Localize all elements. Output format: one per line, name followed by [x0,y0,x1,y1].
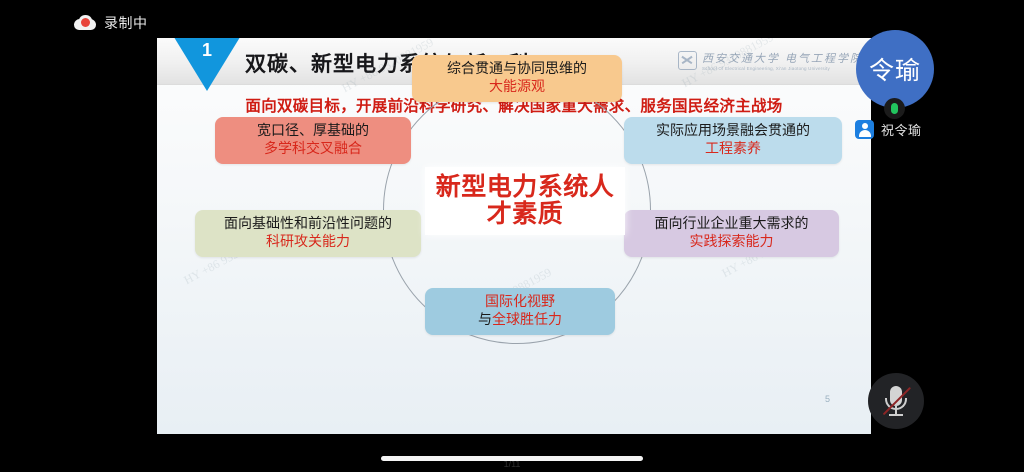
person-icon [855,120,874,139]
node-line2: 大能源观 [421,78,613,96]
diagram-center-box: 新型电力系统人 才素质 [425,167,625,235]
presentation-slide[interactable]: 1 双碳、新型电力系统与新工科 西安交通大学 电气工程学院 School Of … [157,38,871,434]
xjtu-emblem-icon [678,51,697,70]
participant-name-row: 祝令瑜 [855,120,922,139]
node-line2: 多学科交叉融合 [224,140,402,158]
avatar[interactable]: 令瑜 [856,30,934,108]
diagram-node-right-top[interactable]: 实际应用场景融会贯通的 工程素养 [624,117,842,164]
diagram-node-bottom[interactable]: 国际化视野 与全球胜任力 [425,288,615,335]
diagram-node-top[interactable]: 综合贯通与协同思维的 大能源观 [412,55,622,102]
node-line2: 科研攻关能力 [204,233,412,251]
node-line1: 宽口径、厚基础的 [224,122,402,140]
node-line2: 全球胜任力 [492,311,562,327]
avatar-initials: 令瑜 [869,51,921,87]
node-line1: 面向行业企业重大需求的 [633,215,830,233]
mic-mute-button[interactable] [868,373,924,429]
node-line2: 工程素养 [633,140,833,158]
diagram-node-right-bottom[interactable]: 面向行业企业重大需求的 实践探索能力 [624,210,839,257]
node-line2-prefix: 与 [478,311,492,327]
slide-page-number: 5 [825,394,830,404]
home-indicator[interactable] [381,456,643,461]
logo-name-cn: 西安交通大学 电气工程学院 [702,50,863,66]
recording-label: 录制中 [104,13,148,33]
screen-root: 录制中 1 双碳、新型电力系统与新工科 西安交通大学 电气工程学院 School… [0,0,1024,472]
cloud-record-icon [74,15,96,30]
center-line2: 才素质 [487,201,564,228]
diagram-node-left-top[interactable]: 宽口径、厚基础的 多学科交叉融合 [215,117,411,164]
mic-active-badge-icon [884,98,905,119]
logo-name-en: School Of Electrical Engineering, Xi'an … [702,66,863,71]
node-line2: 实践探索能力 [633,233,830,251]
node-line1: 综合贯通与协同思维的 [421,60,613,78]
slide-number-text: 1 [202,40,212,91]
node-line1: 国际化视野 [434,293,606,311]
center-line1: 新型电力系统人 [436,174,615,201]
node-line1: 面向基础性和前沿性问题的 [204,215,412,233]
node-line1: 实际应用场景融会贯通的 [633,122,833,140]
participant-name: 祝令瑜 [881,120,922,139]
university-logo: 西安交通大学 电气工程学院 School Of Electrical Engin… [678,50,863,71]
diagram-node-left-bottom[interactable]: 面向基础性和前沿性问题的 科研攻关能力 [195,210,421,257]
